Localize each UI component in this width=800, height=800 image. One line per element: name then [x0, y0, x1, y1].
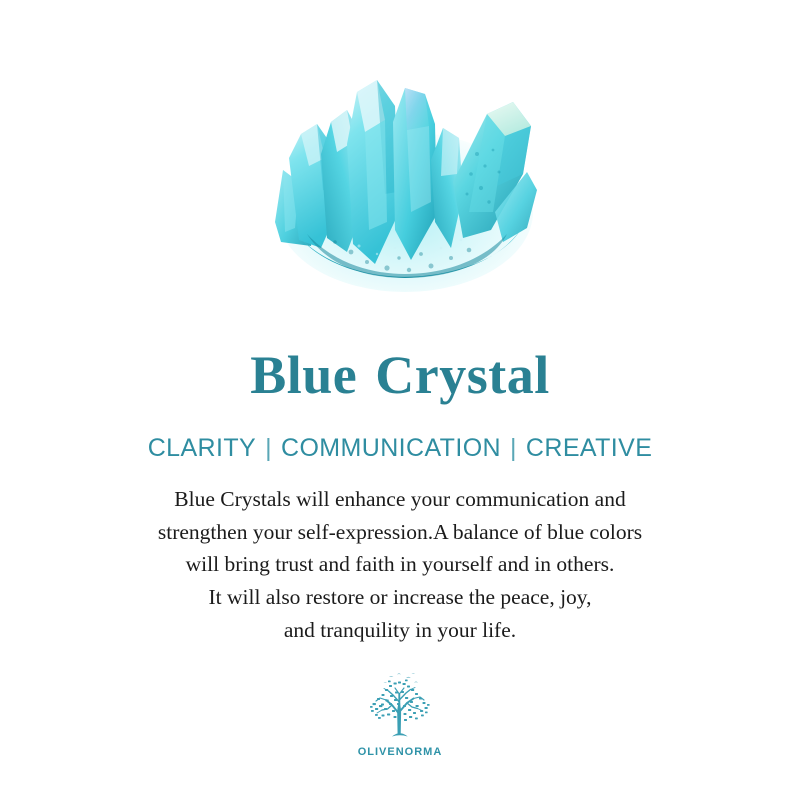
hero-image-area [0, 0, 800, 300]
keyword-separator-2: | [501, 436, 526, 461]
blue-crystal-info-card: BlueCrystal CLARITY|COMMUNICATION|CREATI… [0, 0, 800, 800]
title-word-crystal: Crystal [375, 345, 549, 405]
tree-icon [359, 672, 441, 744]
description-line: will bring trust and faith in yourself a… [40, 548, 760, 581]
page-title: BlueCrystal [250, 348, 550, 402]
description-line: and tranquility in your life. [40, 614, 760, 647]
description-line: strengthen your self-expression.A balanc… [40, 516, 760, 549]
description-paragraph: Blue Crystals will enhance your communic… [40, 483, 760, 646]
brand-wordmark: OLIVENORMA [358, 747, 443, 758]
description-line: Blue Crystals will enhance your communic… [40, 483, 760, 516]
title-word-blue: Blue [250, 345, 357, 405]
crystal-cluster-image [255, 62, 555, 292]
keyword-clarity: CLARITY [148, 434, 256, 462]
brand-logo: OLIVENORMA [358, 672, 443, 758]
keyword-creative: CREATIVE [526, 434, 652, 462]
keyword-communication: COMMUNICATION [281, 434, 501, 462]
keyword-list: CLARITY|COMMUNICATION|CREATIVE [148, 436, 653, 461]
description-line: It will also restore or increase the pea… [40, 581, 760, 614]
crystal-cluster-illustration [255, 62, 555, 292]
keyword-separator-1: | [256, 436, 281, 461]
